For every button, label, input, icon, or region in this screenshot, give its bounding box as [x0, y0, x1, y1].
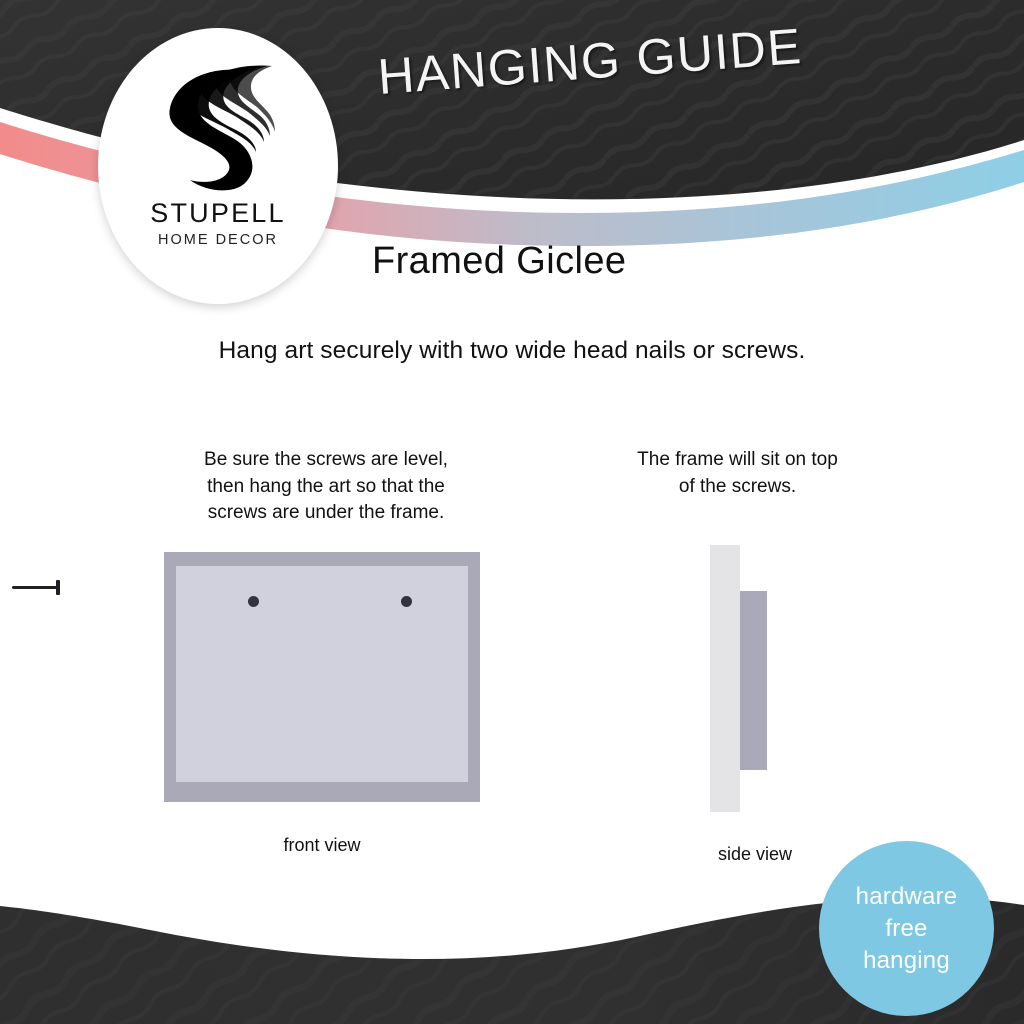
side-view-nail-shaft	[12, 586, 59, 589]
hardware-free-hanging-badge: hardware free hanging	[819, 841, 994, 1016]
side-view-frame-illustration	[700, 545, 810, 815]
hardware-badge-line-1: hardware	[856, 881, 958, 913]
side-view-caption-line-2: of the screws.	[585, 474, 890, 501]
logo-tagline: HOME DECOR	[158, 232, 278, 248]
side-view-wall-strip	[710, 545, 740, 812]
hardware-badge-line-2: free	[856, 913, 958, 945]
hardware-badge-line-3: hanging	[856, 945, 958, 977]
side-view-label: side view	[675, 844, 835, 865]
side-view-caption-line-1: The frame will sit on top	[585, 447, 890, 474]
front-view-label: front view	[164, 835, 480, 856]
page-title: HANGING GUIDE	[376, 17, 804, 106]
front-view-caption-line-3: screws are under the frame.	[160, 500, 492, 527]
front-view-mat	[176, 566, 468, 782]
stupell-swoosh-icon	[158, 60, 278, 192]
side-view-frame-strip	[740, 591, 767, 770]
front-view-frame-illustration	[164, 552, 480, 802]
main-instruction-text: Hang art securely with two wide head nai…	[0, 337, 1024, 365]
side-view-caption: The frame will sit on top of the screws.	[585, 447, 890, 500]
stupell-logo-badge: STUPELL HOME DECOR	[98, 28, 338, 304]
front-view-caption-line-2: then hang the art so that the	[160, 474, 492, 501]
hardware-badge-text: hardware free hanging	[856, 881, 958, 977]
screw-dot-right	[401, 596, 412, 607]
product-type-label: Framed Giclee	[372, 240, 626, 283]
front-view-caption: Be sure the screws are level, then hang …	[160, 447, 492, 527]
hanging-guide-page: STUPELL HOME DECOR HANGING GUIDE Framed …	[0, 0, 1024, 1024]
front-view-caption-line-1: Be sure the screws are level,	[160, 447, 492, 474]
screw-dot-left	[248, 596, 259, 607]
logo-wordmark: STUPELL	[150, 198, 285, 229]
side-view-nail-head	[56, 580, 60, 595]
